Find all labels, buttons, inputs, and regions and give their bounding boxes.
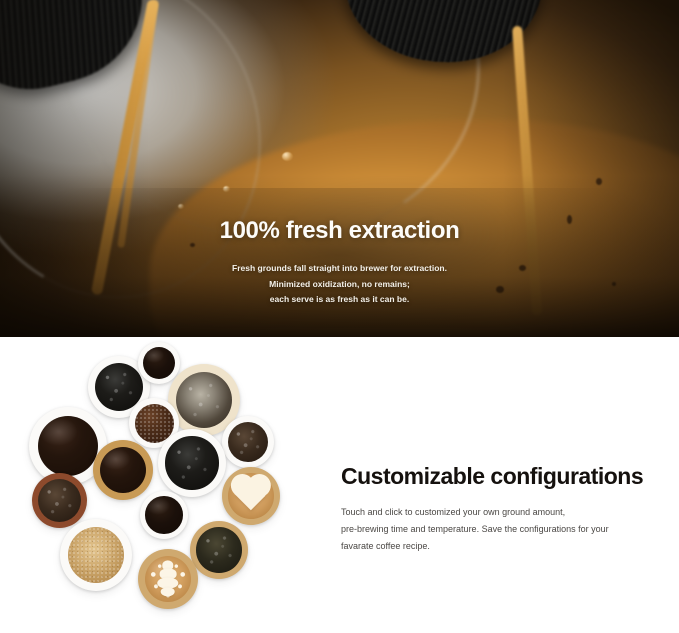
cup-surface-texture xyxy=(68,527,124,583)
cup-surface-texture xyxy=(38,479,81,522)
cup-surface-texture xyxy=(145,496,182,533)
cup-fizz-right xyxy=(222,416,274,468)
hero-title: 100% fresh extraction xyxy=(0,218,679,244)
feature-body-line-3: favarate coffee recipe. xyxy=(341,538,661,555)
cup-latte-tulip xyxy=(138,549,198,609)
cup-black-amber-rim xyxy=(93,440,153,500)
feature-body: Touch and click to customized your own g… xyxy=(341,504,661,554)
cup-brown-rim-left xyxy=(32,473,87,528)
cup-surface-texture xyxy=(38,416,99,477)
cup-surface-texture xyxy=(228,422,269,463)
cup-black-small-center xyxy=(140,491,188,539)
hero-text-block: 100% fresh extraction Fresh grounds fall… xyxy=(0,218,679,308)
latte-art-tulip-icon xyxy=(155,560,181,597)
hero-subtitle: Fresh grounds fall straight into brewer … xyxy=(0,261,679,307)
hero-section: 100% fresh extraction Fresh grounds fall… xyxy=(0,0,679,337)
cup-surface-texture xyxy=(143,347,176,380)
cup-green-tint-right xyxy=(190,521,248,579)
feature-title: Customizable configurations xyxy=(341,463,661,489)
cup-surface-texture xyxy=(165,436,218,489)
feature-text-block: Customizable configurations Touch and cl… xyxy=(341,463,661,554)
cup-surface-texture xyxy=(100,447,147,494)
cup-latte-heart xyxy=(222,467,280,525)
cup-crema-foam-large xyxy=(60,519,132,591)
hero-subtitle-line-1: Fresh grounds fall straight into brewer … xyxy=(0,261,679,276)
product-page: 100% fresh extraction Fresh grounds fall… xyxy=(0,0,679,633)
feature-body-line-1: Touch and click to customized your own g… xyxy=(341,504,661,521)
cup-inky-center xyxy=(158,429,226,497)
cup-surface-texture xyxy=(135,404,174,443)
hero-subtitle-line-2: Minimized oxidization, no remains; xyxy=(0,277,679,292)
cup-espresso-small-top xyxy=(138,342,180,384)
cup-surface-texture xyxy=(176,372,232,428)
hero-subtitle-line-3: each serve is as fresh as it can be. xyxy=(0,292,679,307)
feature-body-line-2: pre-brewing time and temperature. Save t… xyxy=(341,521,661,538)
coffee-cup-collage xyxy=(0,337,320,633)
feature-section: Customizable configurations Touch and cl… xyxy=(0,337,679,633)
cup-surface-texture xyxy=(196,527,241,572)
latte-art-petal xyxy=(161,587,175,597)
